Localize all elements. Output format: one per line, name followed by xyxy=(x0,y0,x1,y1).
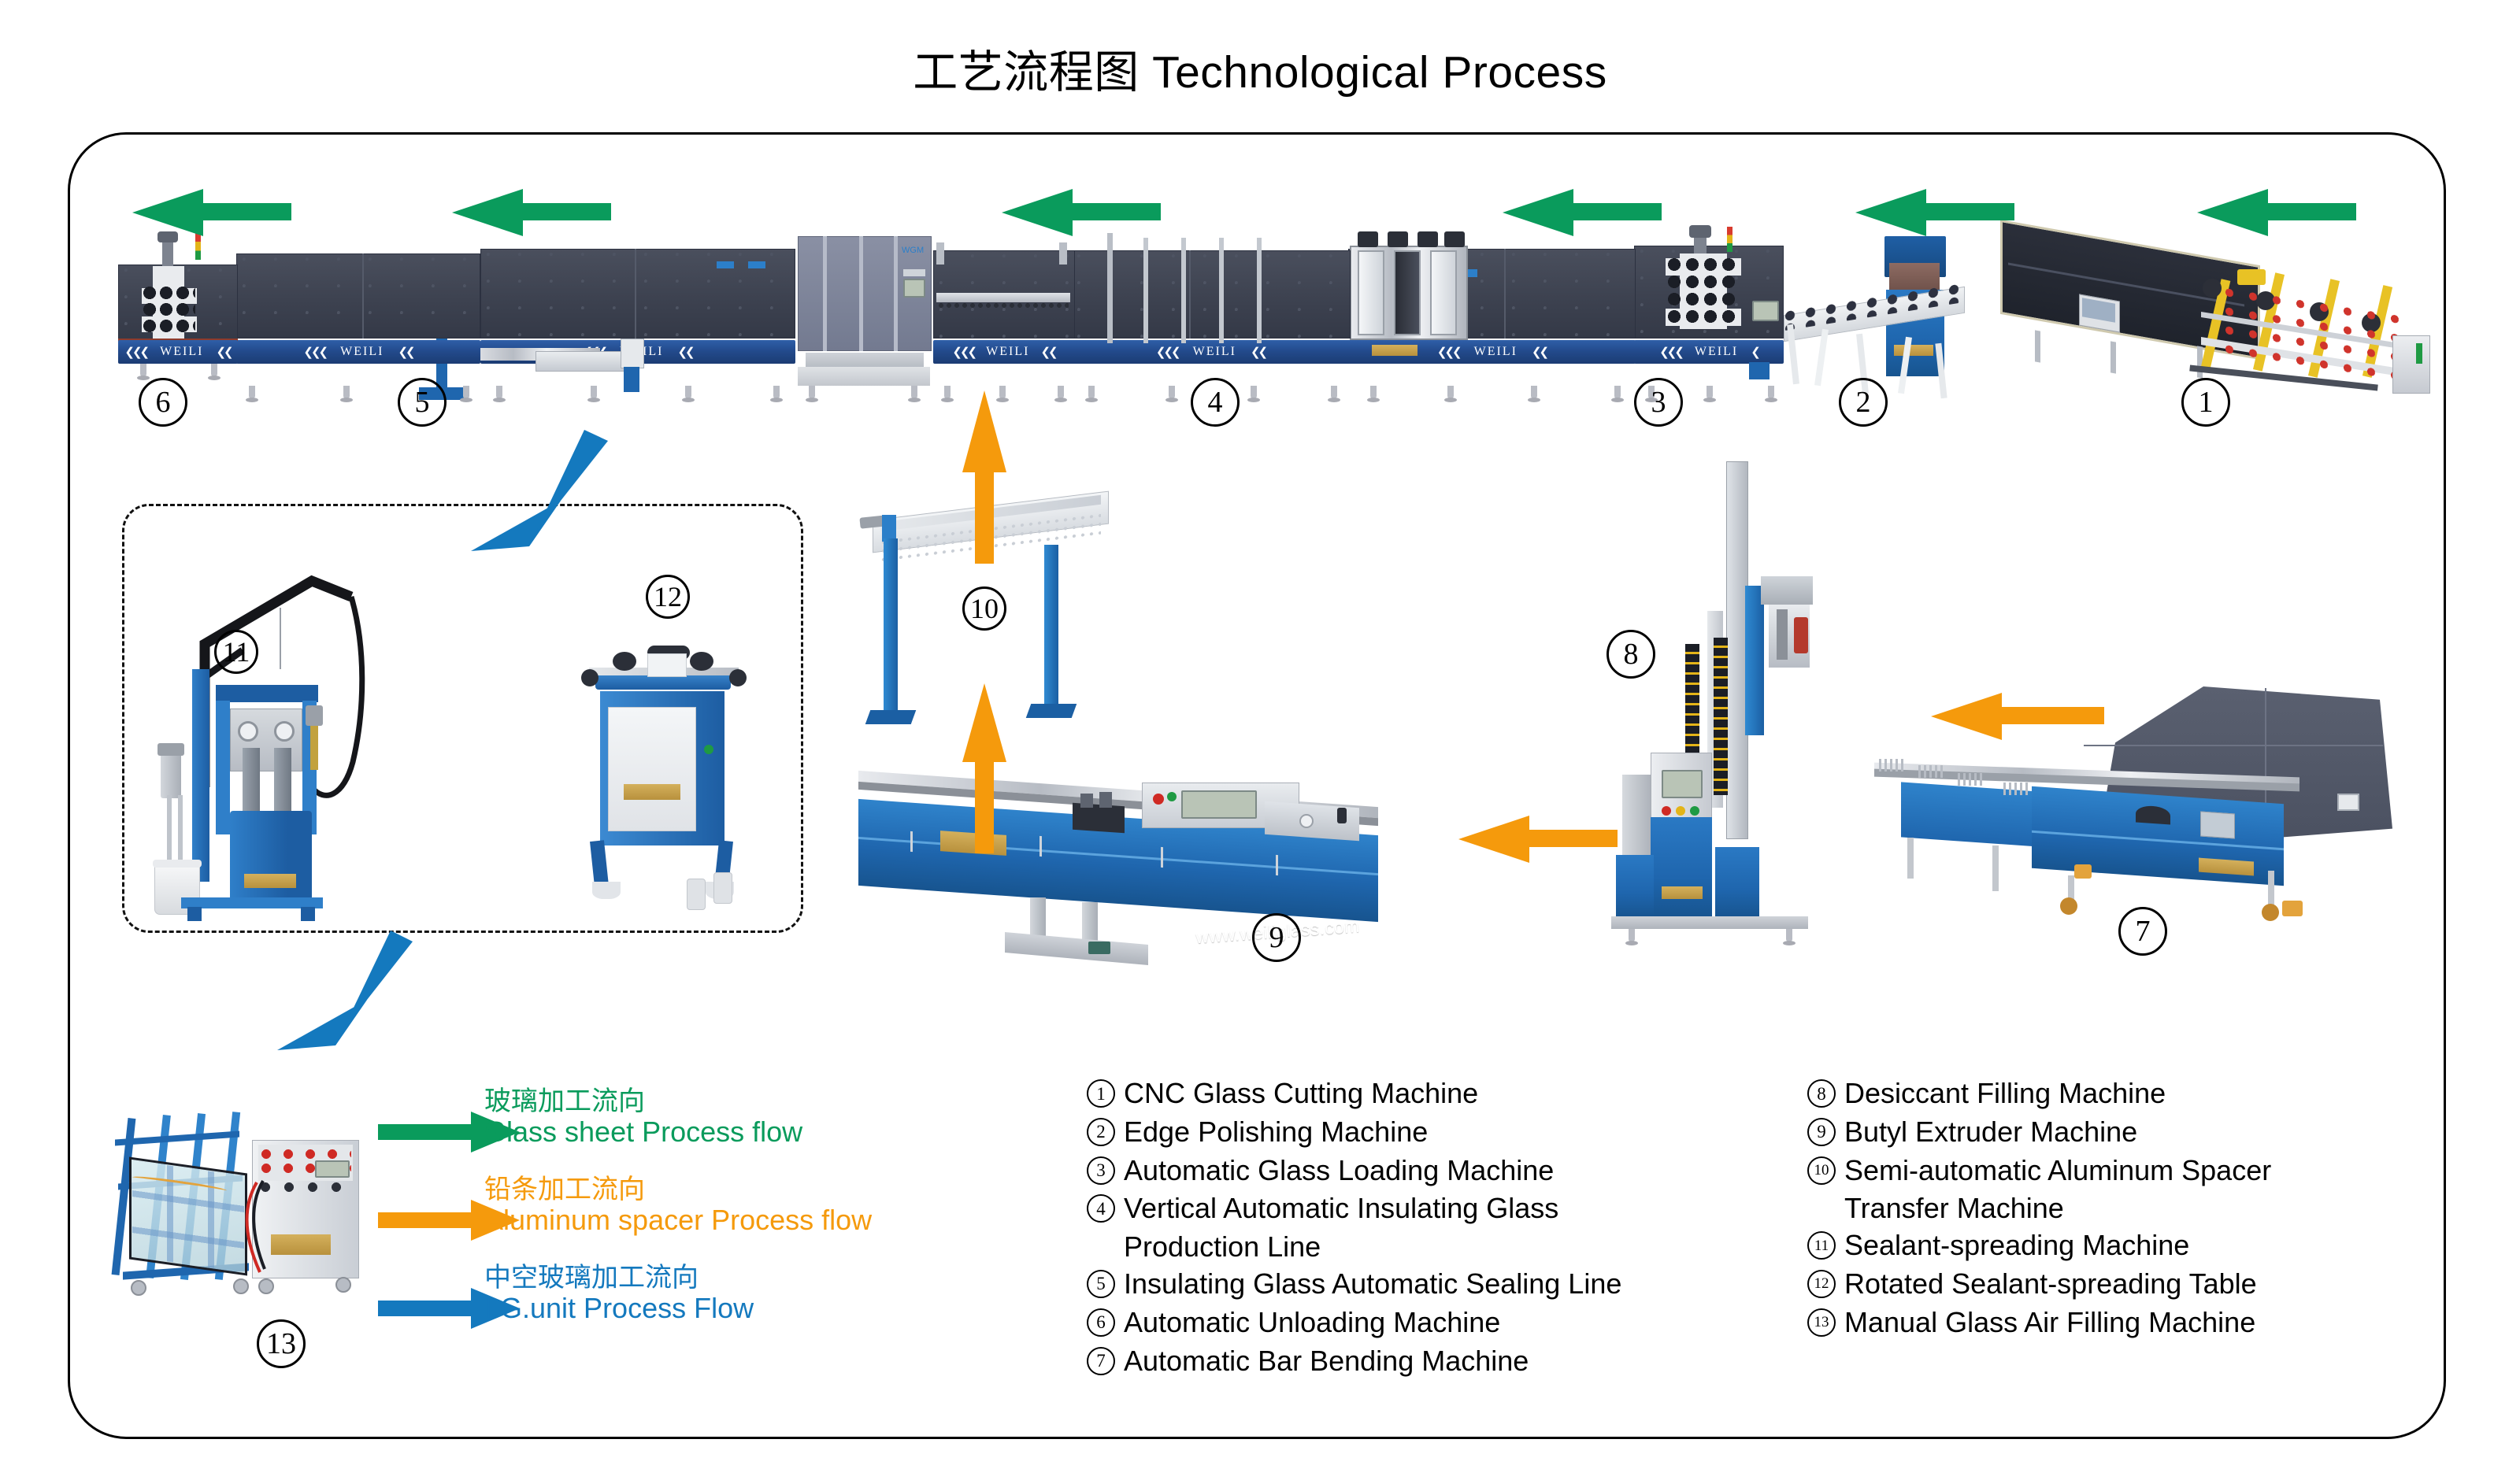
flow-legend-cn-glass: 玻璃加工流向 xyxy=(484,1086,802,1116)
chevron-left-icon: ❮❮ xyxy=(1532,345,1547,360)
list-item-label: Automatic Bar Bending Machine xyxy=(1124,1343,1748,1380)
list-item: 6 Automatic Unloading Machine xyxy=(1087,1304,1748,1341)
cnc-glass-cutting-machine xyxy=(2000,236,2425,386)
desiccant-filling-machine xyxy=(1606,461,1819,934)
list-item: 13 Manual Glass Air Filling Machine xyxy=(1807,1304,2429,1341)
glass-press-section xyxy=(1339,227,1480,384)
chevron-left-icon: ❮❮❮ xyxy=(124,345,147,360)
flow-legend-cn-ig: 中空玻璃加工流向 xyxy=(484,1263,754,1293)
brand-label: WEILI xyxy=(986,345,1029,359)
brand-label: WEILI xyxy=(340,345,384,359)
rotated-sealant-spreading-table xyxy=(565,646,762,921)
list-item-label: Butyl Extruder Machine xyxy=(1844,1114,2429,1151)
flow-legend-row-glass: 玻璃加工流向 Glass sheet Process flow xyxy=(339,1085,937,1173)
list-item-label: Sealant-spreading Machine xyxy=(1844,1227,2429,1264)
list-item: 11 Sealant-spreading Machine xyxy=(1807,1227,2429,1264)
callout-11: 11 xyxy=(214,630,258,674)
automatic-unloading-machine: ❮❮❮ WEILI ❮❮ xyxy=(118,250,238,389)
brand-label: WEILI xyxy=(1695,345,1738,359)
callout-8: 8 xyxy=(1606,630,1655,679)
list-item-number: 7 xyxy=(1087,1347,1115,1375)
list-item: 8 Desiccant Filling Machine xyxy=(1807,1075,2429,1112)
list-item-label: Edge Polishing Machine xyxy=(1124,1114,1748,1151)
callout-12: 12 xyxy=(646,575,690,619)
callout-13: 13 xyxy=(257,1319,306,1368)
list-item-number: 11 xyxy=(1807,1231,1836,1260)
flow-legend: 玻璃加工流向 Glass sheet Process flow 铅条加工流向 A… xyxy=(339,1085,937,1349)
list-item: 9 Butyl Extruder Machine xyxy=(1807,1114,2429,1151)
glass-washing-cabinet: WGM xyxy=(791,230,937,395)
list-item-label: Automatic Unloading Machine xyxy=(1124,1304,1748,1341)
diagram-canvas: 工艺流程图 Technological Process xyxy=(0,0,2520,1480)
list-item-label: Manual Glass Air Filling Machine xyxy=(1844,1304,2429,1341)
sealing-line-gantry: ❮❮❮ WEILI ❮❮ xyxy=(933,236,1075,386)
list-item: 2 Edge Polishing Machine xyxy=(1087,1114,1748,1151)
list-item-number: 2 xyxy=(1087,1118,1115,1146)
chevron-left-icon: ❮❮ xyxy=(398,345,413,360)
chevron-left-icon: ❮❮❮ xyxy=(952,345,975,360)
list-item: 3 Automatic Glass Loading Machine xyxy=(1087,1153,1748,1190)
list-item-number: 4 xyxy=(1087,1194,1115,1223)
list-item-number: 1 xyxy=(1087,1079,1115,1108)
list-item-label-continued: Production Line xyxy=(1087,1229,1748,1266)
list-item: 1 CNC Glass Cutting Machine xyxy=(1087,1075,1748,1112)
flow-legend-en-glass: Glass sheet Process flow xyxy=(484,1116,802,1148)
list-item: 12 Rotated Sealant-spreading Table xyxy=(1807,1266,2429,1303)
list-item-label: Automatic Glass Loading Machine xyxy=(1124,1153,1748,1190)
list-item-number: 5 xyxy=(1087,1270,1115,1298)
list-item: 10 Semi-automatic Aluminum Spacer xyxy=(1807,1153,2429,1190)
list-item-number: 6 xyxy=(1087,1308,1115,1337)
callout-2: 2 xyxy=(1839,378,1888,427)
list-item-label: Semi-automatic Aluminum Spacer xyxy=(1844,1153,2429,1190)
callout-3: 3 xyxy=(1634,378,1683,427)
chevron-left-icon: ❮❮ xyxy=(1040,345,1055,360)
page-title: 工艺流程图 Technological Process xyxy=(0,36,2520,101)
list-item-label: Desiccant Filling Machine xyxy=(1844,1075,2429,1112)
chevron-left-icon: ❮❮ xyxy=(677,345,692,360)
list-item-number: 12 xyxy=(1807,1270,1836,1298)
chevron-left-icon: ❮❮ xyxy=(216,345,231,360)
list-item-number: 3 xyxy=(1087,1156,1115,1185)
callout-6: 6 xyxy=(139,378,187,427)
list-item-label: CNC Glass Cutting Machine xyxy=(1124,1075,1748,1112)
list-item: 4 Vertical Automatic Insulating Glass xyxy=(1087,1190,1748,1227)
flow-legend-en-spacer: Aluminum spacer Process flow xyxy=(484,1204,872,1236)
flow-legend-row-spacer: 铅条加工流向 Aluminum spacer Process flow xyxy=(339,1173,937,1261)
butyl-extruder-machine: www.weiliglass.com xyxy=(858,771,1410,953)
automatic-bar-bending-machine xyxy=(1874,677,2425,937)
automatic-glass-loading-machine: ❮❮❮ WEILI ❮ xyxy=(1634,236,1784,386)
flow-legend-row-ig: 中空玻璃加工流向 I.G.unit Process Flow xyxy=(339,1261,937,1349)
flow-legend-cn-spacer: 铅条加工流向 xyxy=(484,1175,872,1204)
list-item-number: 10 xyxy=(1807,1156,1836,1185)
list-item-number: 8 xyxy=(1807,1079,1836,1108)
chevron-left-icon: ❮❮❮ xyxy=(303,345,326,360)
callout-9: 9 xyxy=(1252,913,1301,962)
equipment-list-left: 1 CNC Glass Cutting Machine 2 Edge Polis… xyxy=(1087,1075,1748,1381)
flow-legend-en-ig: I.G.unit Process Flow xyxy=(484,1293,754,1324)
list-item-number: 13 xyxy=(1807,1308,1836,1337)
callout-1: 1 xyxy=(2181,378,2230,427)
callout-7: 7 xyxy=(2118,907,2167,956)
callout-4: 4 xyxy=(1191,378,1240,427)
sealant-spreading-machine xyxy=(154,551,446,921)
list-item: 5 Insulating Glass Automatic Sealing Lin… xyxy=(1087,1266,1748,1303)
callout-10: 10 xyxy=(962,586,1006,631)
list-item-label: Rotated Sealant-spreading Table xyxy=(1844,1266,2429,1303)
list-item-label-continued: Transfer Machine xyxy=(1807,1190,2429,1227)
brand-label: WEILI xyxy=(160,345,203,359)
list-item-label: Vertical Automatic Insulating Glass xyxy=(1124,1190,1748,1227)
equipment-list-right: 8 Desiccant Filling Machine 9 Butyl Extr… xyxy=(1807,1075,2429,1343)
list-item: 7 Automatic Bar Bending Machine xyxy=(1087,1343,1748,1380)
list-item-number: 9 xyxy=(1807,1118,1836,1146)
chevron-left-icon: ❮ xyxy=(1751,345,1758,360)
ig-line-vertical-bars xyxy=(1102,233,1284,348)
list-item-label: Insulating Glass Automatic Sealing Line xyxy=(1124,1266,1748,1303)
edge-polishing-machine xyxy=(1784,236,1981,386)
chevron-left-icon: ❮❮❮ xyxy=(1659,345,1682,360)
